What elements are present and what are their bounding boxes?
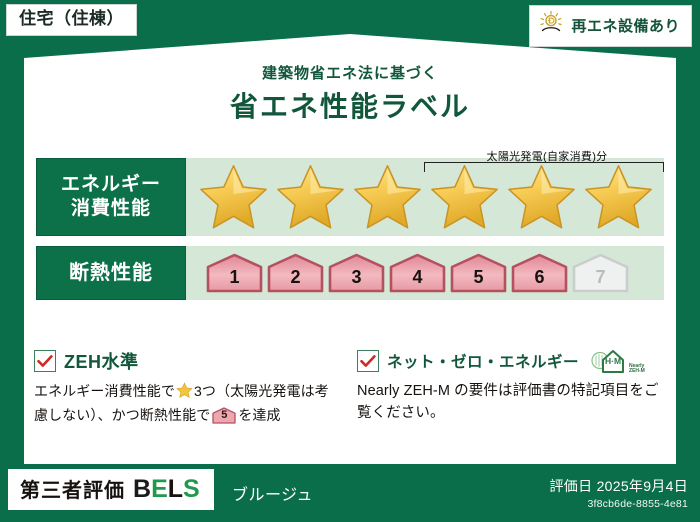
insulation-level-value: 7 bbox=[595, 267, 605, 293]
insulation-level-value: 3 bbox=[351, 267, 361, 293]
net-zero-energy-block: ネット・ゼロ・エネルギー H·M Nearly Z bbox=[357, 348, 662, 426]
zeh-m-logo-caption: Nearly ZEH-M bbox=[629, 364, 645, 375]
checkbox-checked-icon bbox=[357, 350, 379, 372]
energy-consumption-row: エネルギー 消費性能 太陽光発電(自家消費)分 bbox=[36, 158, 664, 236]
solar-annotation-bracket bbox=[424, 162, 664, 172]
insulation-level-2: 2 bbox=[267, 253, 324, 293]
zeh-standard-block: ZEH水準 エネルギー消費性能で3つ（太陽光発電は考慮しない）、かつ断熱性能で5… bbox=[34, 348, 339, 426]
energy-label-line2: 消費性能 bbox=[71, 197, 151, 221]
insulation-level-1: 1 bbox=[206, 253, 263, 293]
category-tag: 住宅（住棟） bbox=[6, 4, 137, 36]
insulation-level-value: 2 bbox=[290, 267, 300, 293]
checkbox-checked-icon bbox=[34, 350, 56, 372]
star-icon bbox=[196, 162, 271, 232]
page-title: 省エネ性能ラベル bbox=[0, 85, 700, 125]
inline-house-badge: 5 bbox=[212, 407, 236, 424]
label-subtitle: 建築物省エネ法に基づく bbox=[0, 62, 700, 83]
energy-consumption-label: エネルギー 消費性能 bbox=[36, 158, 186, 236]
net-zero-heading: ネット・ゼロ・エネルギー bbox=[387, 350, 579, 372]
star-icon bbox=[427, 162, 502, 232]
net-zero-body: Nearly ZEH-M の要件は評価書の特記項目をご覧ください。 bbox=[357, 381, 662, 425]
bels-plate: 第三者評価 BELS bbox=[8, 469, 214, 510]
bels-logo: BELS bbox=[133, 475, 200, 504]
star-rating bbox=[186, 162, 656, 232]
insulation-level-6: 6 bbox=[511, 253, 568, 293]
svg-text:H·M: H·M bbox=[605, 356, 621, 366]
zeh-m-caption-line2: ZEH-M bbox=[629, 368, 645, 374]
insulation-level-4: 4 bbox=[389, 253, 446, 293]
zeh-body-part1: エネルギー消費性能で bbox=[34, 383, 175, 399]
insulation-level-3: 3 bbox=[328, 253, 385, 293]
insulation-level-7: 7 bbox=[572, 253, 629, 293]
insulation-row: 断熱性能 1234567 bbox=[36, 246, 664, 300]
performance-rows: エネルギー 消費性能 太陽光発電(自家消費)分 断熱性能 1234567 bbox=[36, 158, 664, 310]
inline-house-value: 5 bbox=[212, 407, 236, 424]
energy-consumption-body: 太陽光発電(自家消費)分 bbox=[186, 158, 664, 236]
star-icon bbox=[581, 162, 656, 232]
solar-sun-icon bbox=[538, 10, 564, 41]
zeh-standard-body: エネルギー消費性能で3つ（太陽光発電は考慮しない）、かつ断熱性能で5を達成 bbox=[34, 381, 339, 426]
star-icon bbox=[504, 162, 579, 232]
insulation-level-5: 5 bbox=[450, 253, 507, 293]
zeh-body-part3: を達成 bbox=[238, 407, 280, 423]
insulation-body: 1234567 bbox=[186, 246, 664, 300]
bels-letter-l: L bbox=[168, 475, 183, 503]
bels-letter-b: B bbox=[133, 475, 151, 503]
inline-star-icon bbox=[176, 382, 193, 405]
bels-letter-s: S bbox=[183, 475, 200, 503]
star-icon bbox=[350, 162, 425, 232]
renewable-energy-badge: 再エネ設備あり bbox=[529, 5, 692, 47]
insulation-level-value: 4 bbox=[412, 267, 422, 293]
evaluation-uid: 3f8cb6de-8855-4e81 bbox=[549, 498, 688, 510]
energy-label-line1: エネルギー bbox=[61, 173, 161, 197]
renewable-energy-badge-label: 再エネ設備あり bbox=[571, 15, 680, 36]
insulation-level-value: 6 bbox=[534, 267, 544, 293]
insulation-level-scale: 1234567 bbox=[186, 253, 629, 293]
footer: 第三者評価 BELS ブルージュ 評価日 2025年9月4日 3f8cb6de-… bbox=[0, 464, 700, 522]
insulation-label-text: 断熱性能 bbox=[69, 261, 153, 286]
insulation-label: 断熱性能 bbox=[36, 246, 186, 300]
energy-performance-label: 住宅（住棟） 再エネ設備あり 建築物省エネ法に基づく 省エネ性能 bbox=[0, 0, 700, 522]
zeh-m-logo: H·M Nearly ZEH-M bbox=[591, 348, 645, 374]
building-name: ブルージュ bbox=[232, 481, 313, 505]
footer-meta: 評価日 2025年9月4日 3f8cb6de-8855-4e81 bbox=[549, 476, 688, 510]
info-columns: ZEH水準 エネルギー消費性能で3つ（太陽光発電は考慮しない）、かつ断熱性能で5… bbox=[34, 348, 664, 426]
net-zero-heading-row: ネット・ゼロ・エネルギー H·M Nearly Z bbox=[357, 348, 662, 374]
star-icon bbox=[273, 162, 348, 232]
bels-letter-e: E bbox=[151, 475, 168, 503]
insulation-level-value: 5 bbox=[473, 267, 483, 293]
zeh-standard-heading: ZEH水準 bbox=[64, 348, 139, 374]
zeh-standard-heading-row: ZEH水準 bbox=[34, 348, 339, 374]
insulation-level-value: 1 bbox=[229, 267, 239, 293]
evaluation-date: 評価日 2025年9月4日 bbox=[549, 476, 688, 496]
third-party-label: 第三者評価 bbox=[20, 474, 125, 503]
